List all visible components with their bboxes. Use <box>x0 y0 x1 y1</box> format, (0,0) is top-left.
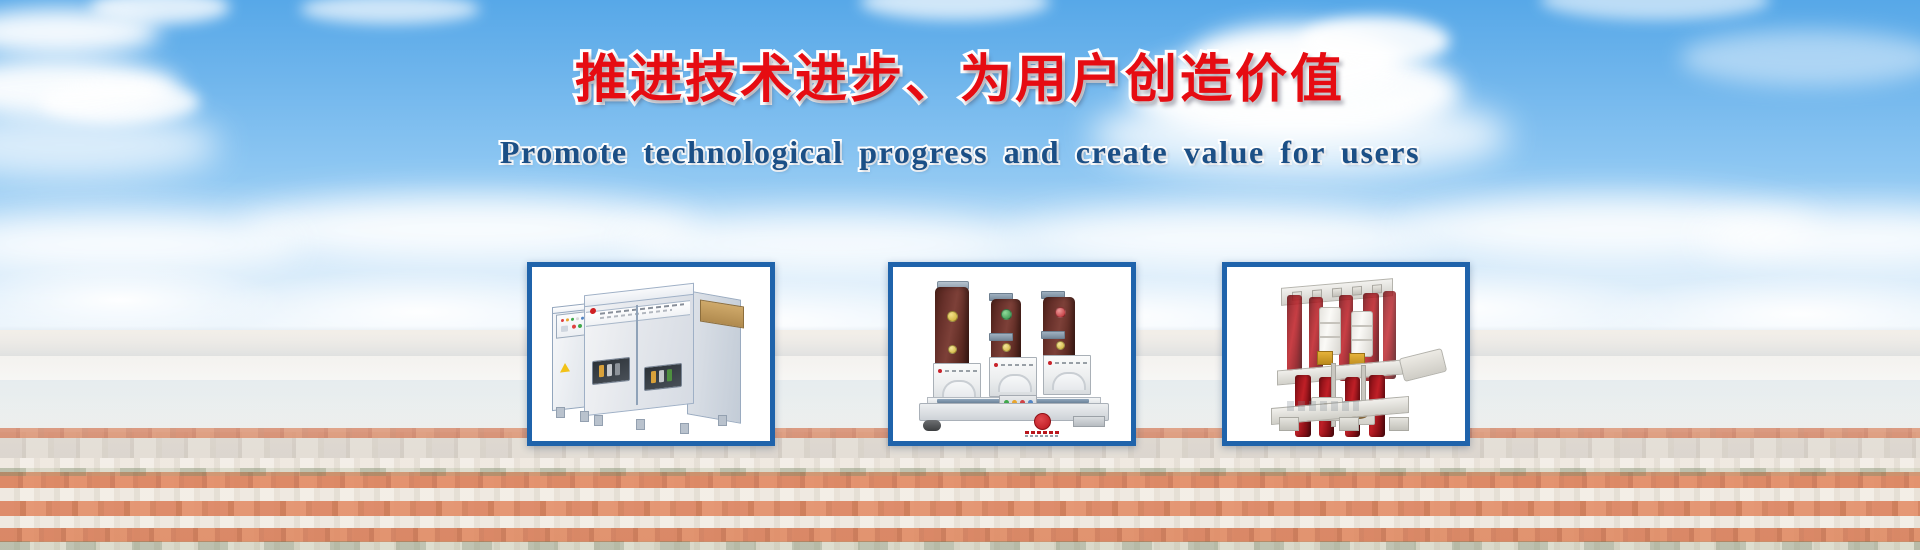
pole-indicator-left-lower <box>948 345 957 354</box>
logo-subtext <box>1025 435 1059 437</box>
cabinet-foot <box>556 407 565 418</box>
contactor-side-arm <box>1399 348 1447 382</box>
cabinet-foot <box>718 415 727 426</box>
pole-indicator-right-upper <box>1055 307 1066 318</box>
promo-banner: 推进技术进步、为用户创造价值 Promote technological pro… <box>0 0 1920 550</box>
operating-mechanism-box-right <box>1043 355 1091 395</box>
base-roller <box>923 420 941 431</box>
product-card-vacuum-contactor-3pole[interactable] <box>888 262 1136 446</box>
cabinet-foot <box>636 419 645 430</box>
product-card-red-column-contactor[interactable] <box>1222 262 1470 446</box>
pole-bracket-middle-lower <box>989 333 1013 341</box>
pole-bracket-right-lower <box>1041 331 1065 339</box>
vacuum-interrupter-upper-right <box>1351 311 1373 357</box>
base-foot-right <box>1389 417 1409 431</box>
pole-indicator-middle-upper <box>1001 309 1012 320</box>
cabinet-viewing-window-right <box>644 363 682 391</box>
pole-indicator-middle-lower <box>1002 343 1011 352</box>
base-mounting-plate <box>1073 416 1105 427</box>
pole-indicator-left-upper <box>947 311 958 322</box>
cabinet-foot <box>594 415 603 426</box>
base-foot-center <box>1339 417 1359 431</box>
warning-triangle-icon <box>560 362 570 372</box>
cabinet-foot <box>680 423 689 434</box>
product-card-switchgear-cabinet[interactable] <box>527 262 775 446</box>
pole-indicator-right-lower <box>1056 341 1065 350</box>
contactor-nameplate <box>1287 401 1359 411</box>
logo-ring-icon <box>1034 413 1051 430</box>
logo-brand-text <box>1025 431 1059 434</box>
product-image-gallery <box>0 0 1920 550</box>
vacuum-interrupter-upper-left <box>1319 307 1341 355</box>
control-panel <box>556 311 586 338</box>
cabinet-viewing-window-left <box>592 357 630 385</box>
cabinet-door-seam <box>636 305 638 405</box>
cabinet-foot <box>580 411 589 422</box>
manufacturer-logo <box>1025 413 1059 437</box>
product-image-vacuum-contactor-3pole <box>893 267 1131 441</box>
product-image-red-column-contactor <box>1227 267 1465 441</box>
base-foot-left <box>1279 417 1299 431</box>
operating-mechanism-box-middle <box>989 357 1037 397</box>
product-image-switchgear-cabinet <box>532 267 770 441</box>
